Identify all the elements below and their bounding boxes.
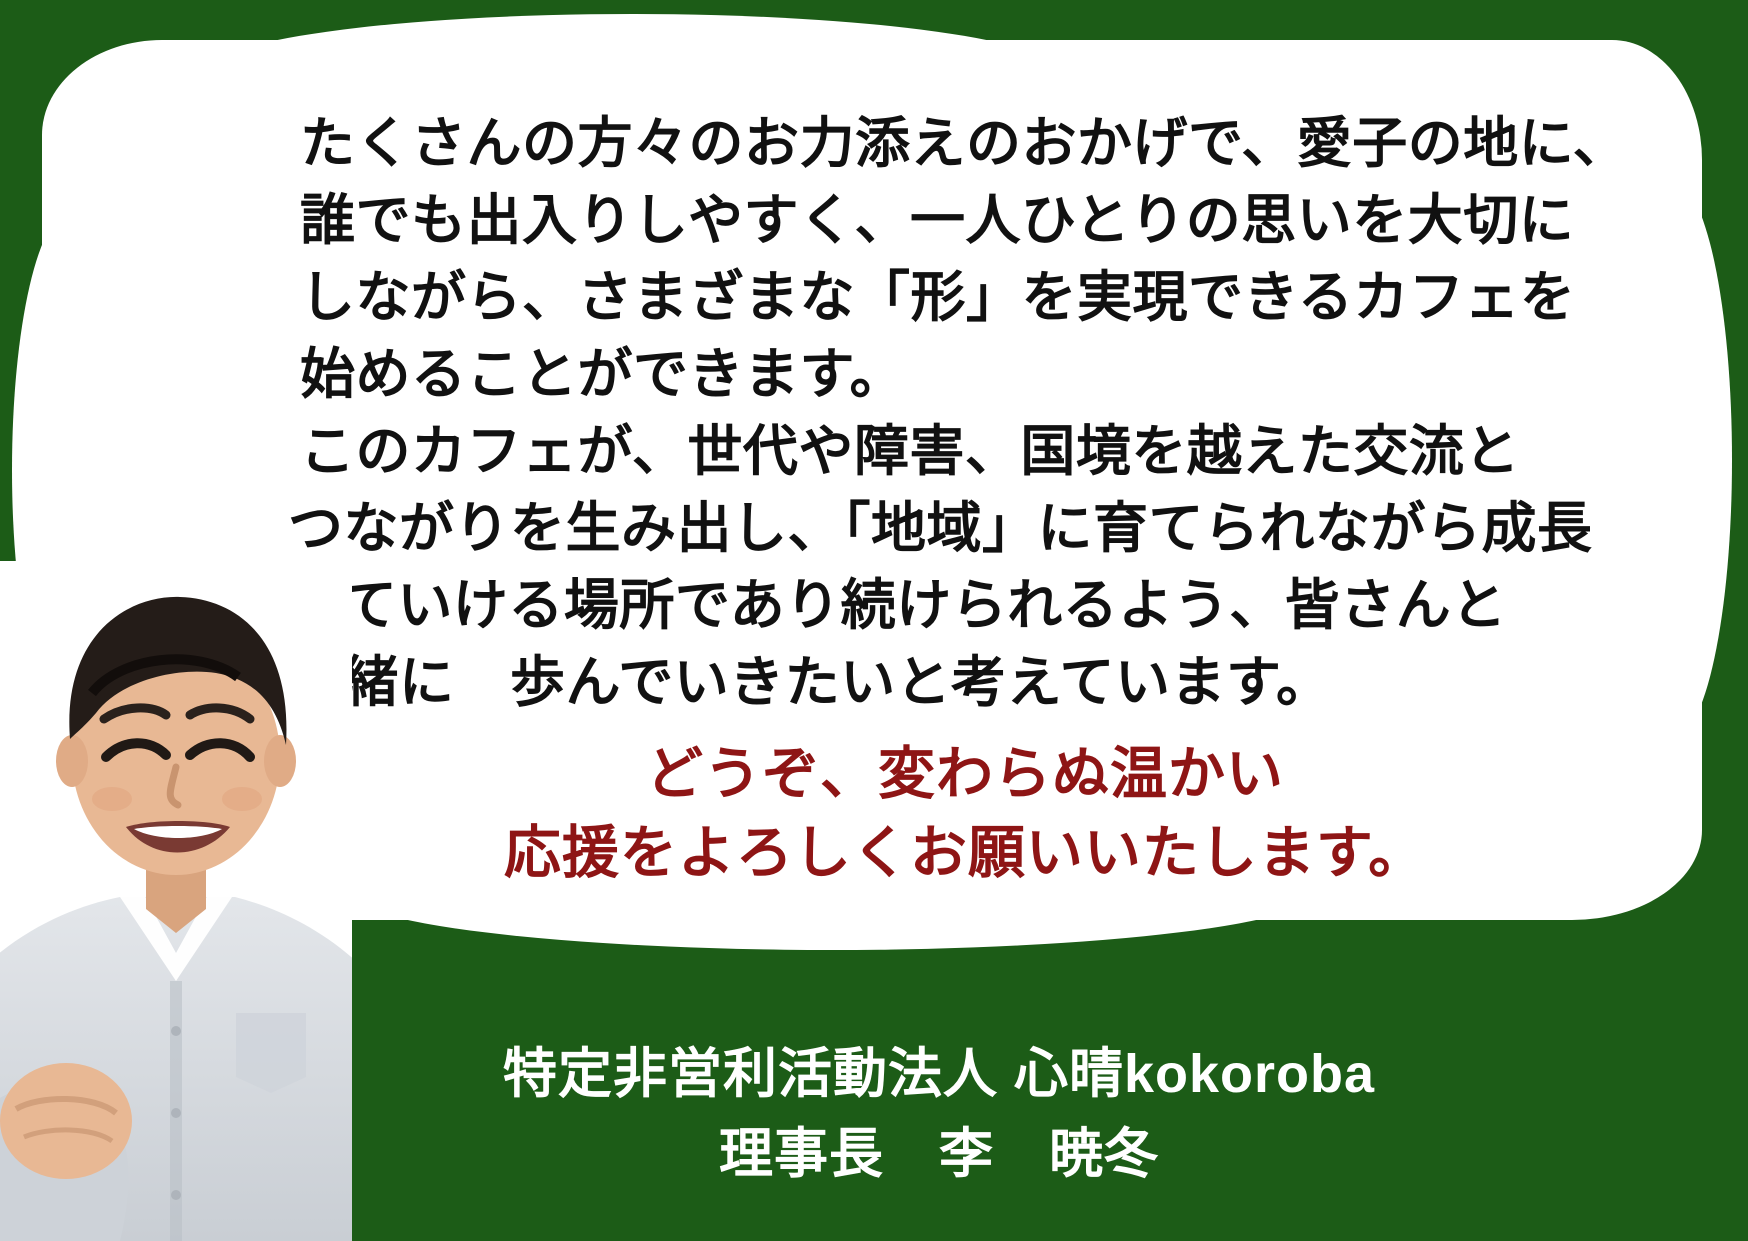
ear-left [56,735,88,787]
ear-right [264,735,296,787]
cheek-left [92,787,132,811]
emphasis-copy: どうぞ、変わらぬ温かい 応援をよろしくお願いいたします。 [300,735,1630,892]
body-line-3: しながら、さまざまな「形」を実現できるカフェを [300,259,1630,336]
body-line-4: 始めることができます。 [300,336,1630,413]
body-line-5: このカフェが、世代や障害、国境を越えた交流と [300,413,1630,490]
body-copy: たくさんの方々のお力添えのおかげで、愛子の地に、 誰でも出入りしやすく、一人ひと… [300,105,1630,721]
body-line-2: 誰でも出入りしやすく、一人ひとりの思いを大切に [300,182,1630,259]
emphasis-line-1: どうぞ、変わらぬ温かい [300,735,1630,814]
body-line-1: たくさんの方々のお力添えのおかげで、愛子の地に、 [300,105,1630,182]
fist [0,1063,132,1179]
poster-root: たくさんの方々のお力添えのおかげで、愛子の地に、 誰でも出入りしやすく、一人ひと… [0,0,1748,1241]
panel-bump-right [1612,180,1732,740]
body-line-7: していける場所であり続けられるよう、皆さんと [288,567,1630,644]
body-line-8: 一緒に 歩んでいきたいと考えています。 [288,644,1630,721]
cheek-right [222,787,262,811]
emphasis-line-2: 応援をよろしくお願いいたします。 [300,814,1630,893]
smiling-man-portrait [0,561,352,1241]
shirt-button-1 [171,1026,181,1036]
body-line-6: つながりを生み出し、「地域」に育てられながら成長 [288,490,1630,567]
shirt-button-2 [171,1108,181,1118]
shirt-button-3 [171,1190,181,1200]
portrait-illustration [0,561,352,1241]
shirt-pocket [236,1013,306,1093]
